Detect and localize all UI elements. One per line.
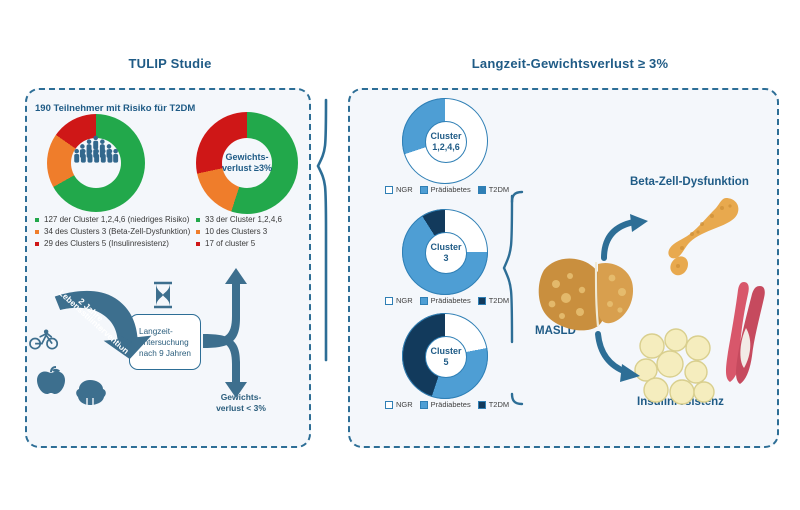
cohort-legend: 127 der Cluster 1,2,4,6 (niedriges Risik… <box>35 214 190 250</box>
cohort-legend-item: 127 der Cluster 1,2,4,6 (niedriges Risik… <box>35 214 190 226</box>
legend-label-t2dm: T2DM <box>489 296 509 305</box>
cluster-5-donut-chart: Cluster 5 <box>402 313 488 399</box>
weightloss-center-line1: Gewichts- <box>225 152 268 162</box>
cluster-3-legend: NGR Prädiabetes T2DM <box>385 296 513 305</box>
legend-swatch-ngr <box>385 186 393 194</box>
cluster-3-center-line2: 3 <box>443 253 448 263</box>
cluster-5-donut-hole: Cluster 5 <box>425 336 467 378</box>
figure-canvas: TULIP Studie Langzeit-Gewichtsverlust ≥ … <box>0 0 800 510</box>
legend-label-t2dm: T2DM <box>489 400 509 409</box>
cluster-3-center-line1: Cluster <box>430 242 461 252</box>
insulin-resistance-label: Insulinresistenz <box>637 396 724 408</box>
right-panel-title: Langzeit-Gewichtsverlust ≥ 3% <box>360 56 780 71</box>
legend-label-t2dm: T2DM <box>489 185 509 194</box>
cluster-3-donut-chart: Cluster 3 <box>402 209 488 295</box>
longterm-followup-box: Langzeit- untersuchung nach 9 Jahren <box>129 314 201 370</box>
cohort-donut-chart <box>47 114 145 212</box>
flow-box-line2: untersuchung <box>139 338 189 347</box>
cohort-legend-item: 34 des Clusters 3 (Beta-Zell-Dysfunktion… <box>35 226 190 238</box>
cluster-1246-center-line1: Cluster <box>430 131 461 141</box>
cluster-5-center-line1: Cluster <box>430 346 461 356</box>
weightloss-donut-chart: Gewichts- verlust ≥3% <box>196 112 298 214</box>
cluster-5-center-line2: 5 <box>443 357 448 367</box>
beta-cell-dysfunction-label: Beta-Zell-Dysfunktion <box>630 176 749 188</box>
outcome-line2: verlust < 3% <box>216 403 266 413</box>
weightloss-legend-item: 33 der Cluster 1,2,4,6 <box>196 214 282 226</box>
legend-swatch-pradiabetes <box>420 297 428 305</box>
cluster-1246-donut-chart: Cluster 1,2,4,6 <box>402 98 488 184</box>
legend-swatch-t2dm <box>478 401 486 409</box>
legend-label-pradiabetes: Prädiabetes <box>431 296 471 305</box>
legend-swatch-pradiabetes <box>420 401 428 409</box>
legend-swatch-pradiabetes <box>420 186 428 194</box>
left-panel-brace <box>318 100 326 360</box>
outcome-line1: Gewichts- <box>221 392 262 402</box>
weightloss-legend: 33 der Cluster 1,2,4,6 10 des Clusters 3… <box>196 214 282 250</box>
cluster-3-donut-hole: Cluster 3 <box>425 232 467 274</box>
weight-loss-under-3-label: Gewichts- verlust < 3% <box>196 392 286 414</box>
legend-label-ngr: NGR <box>396 185 413 194</box>
weightloss-donut-hole: Gewichts- verlust ≥3% <box>222 138 272 188</box>
masld-label: MASLD <box>535 325 576 337</box>
weightloss-legend-item: 17 of cluster 5 <box>196 238 282 250</box>
legend-swatch-ngr <box>385 401 393 409</box>
flow-box-line1: Langzeit- <box>139 327 173 336</box>
weightloss-center-line2: verlust ≥3% <box>222 163 272 173</box>
legend-label-pradiabetes: Prädiabetes <box>431 185 471 194</box>
legend-swatch-ngr <box>385 297 393 305</box>
legend-label-ngr: NGR <box>396 400 413 409</box>
legend-swatch-t2dm <box>478 297 486 305</box>
cluster-1246-center-line2: 1,2,4,6 <box>432 142 460 152</box>
left-panel-title: TULIP Studie <box>60 56 280 71</box>
cluster-5-legend: NGR Prädiabetes T2DM <box>385 400 513 409</box>
cohort-subtitle: 190 Teilnehmer mit Risiko für T2DM <box>35 103 195 114</box>
weightloss-legend-item: 10 des Clusters 3 <box>196 226 282 238</box>
flow-box-line3: nach 9 Jahren <box>139 349 191 358</box>
legend-label-ngr: NGR <box>396 296 413 305</box>
cluster-1246-legend: NGR Prädiabetes T2DM <box>385 185 513 194</box>
cohort-legend-item: 29 des Clusters 5 (Insulinresistenz) <box>35 238 190 250</box>
cluster-1246-donut-hole: Cluster 1,2,4,6 <box>425 121 467 163</box>
legend-label-pradiabetes: Prädiabetes <box>431 400 471 409</box>
legend-swatch-t2dm <box>478 186 486 194</box>
cohort-donut-hole <box>71 138 121 188</box>
